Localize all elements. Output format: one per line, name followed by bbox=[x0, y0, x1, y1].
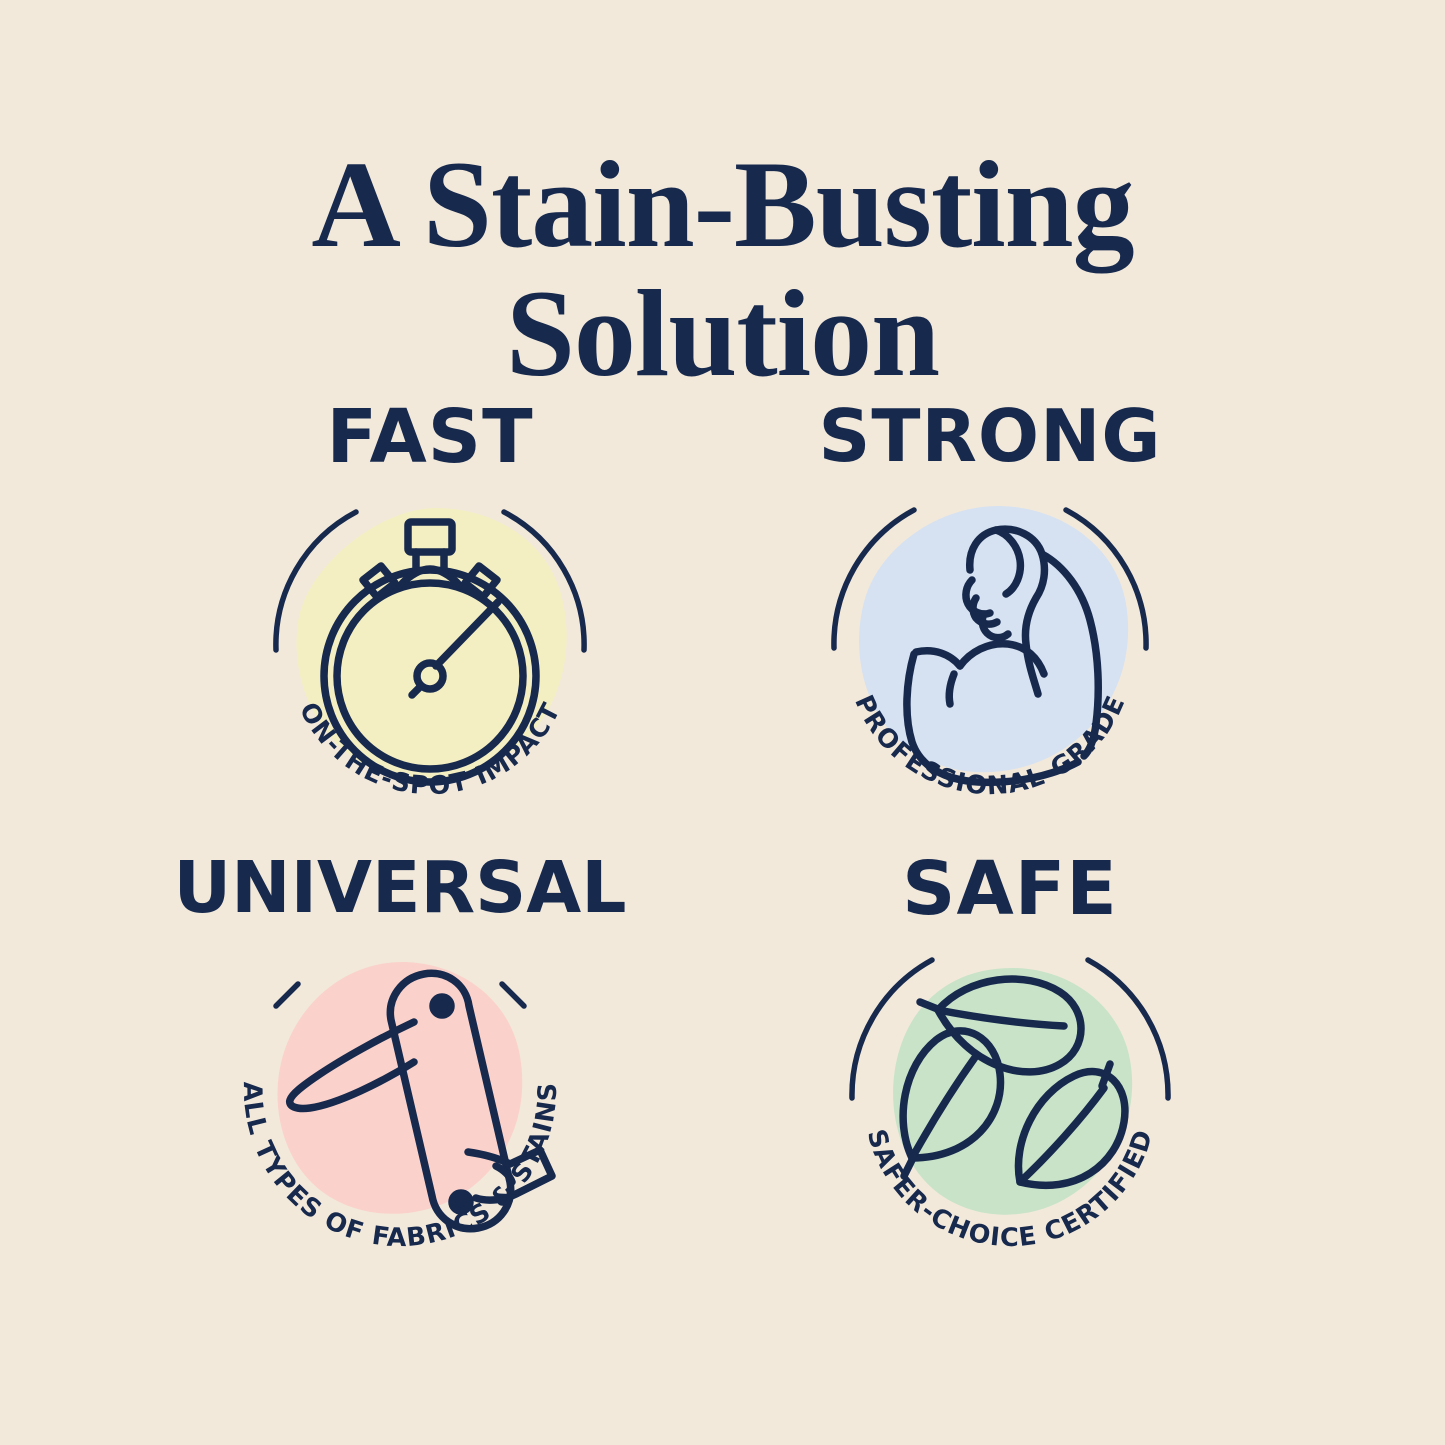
badge-strong-art: PROFESSIONAL-GRADE bbox=[800, 462, 1180, 842]
badge-safe: SAFE bbox=[720, 852, 1300, 1322]
page-title-line-2: Solution bbox=[0, 270, 1445, 399]
page-title-line-1: A Stain-Busting bbox=[311, 136, 1133, 273]
dash-right-icon bbox=[502, 984, 524, 1006]
page-title: A Stain-Busting Solution bbox=[0, 141, 1445, 399]
infographic-page: A Stain-Busting Solution FAST bbox=[0, 0, 1445, 1445]
badge-fast: FAST bbox=[140, 400, 720, 870]
badge-safe-art: SAFER-CHOICE CERTIFIED bbox=[820, 914, 1200, 1294]
dash-left-icon bbox=[276, 984, 298, 1006]
badge-universal-art: ALL TYPES OF FABRICS & STAINS bbox=[210, 914, 590, 1294]
badge-universal-title: UNIVERSAL bbox=[110, 852, 690, 923]
badge-fast-art: ON-THE-SPOT IMPACT bbox=[240, 462, 620, 842]
badge-strong: STRONG bbox=[700, 400, 1280, 870]
badge-grid: FAST bbox=[0, 400, 1445, 1420]
badge-universal: UNIVERSAL bbox=[110, 852, 690, 1322]
